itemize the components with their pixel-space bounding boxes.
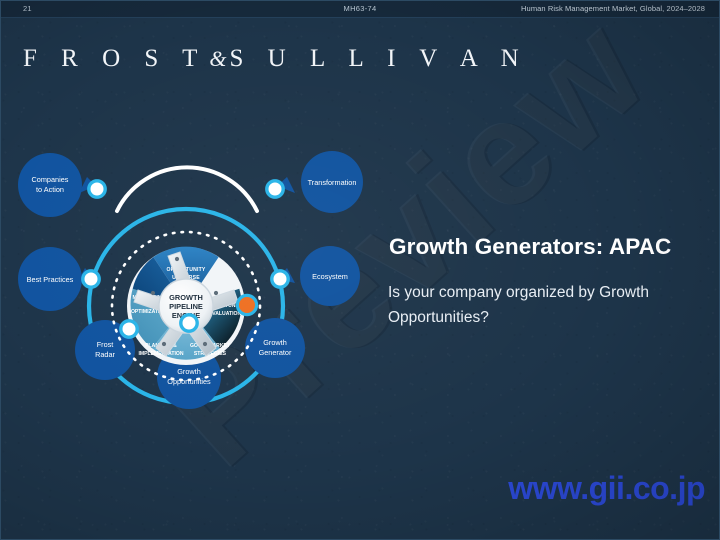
ring-node-3[interactable] [121, 321, 137, 337]
growth-pipeline-diagram: Companies to Action Best Practices Frost… [1, 101, 401, 421]
growth-pipeline-wheel: OPPORTUNITY UNIVERSE OPPORTUNITY EVALUAT… [127, 247, 245, 365]
ring-node-4[interactable] [181, 315, 197, 331]
bubble-label: Ecosystem [312, 272, 348, 281]
frost-sullivan-logo: F R O S T&S U L L I V A N [23, 45, 528, 73]
hub-label-line-1: GROWTH [169, 293, 203, 302]
ring-node-5-active[interactable] [237, 295, 256, 314]
bubble-companies-to-action[interactable]: Companies to Action [18, 153, 96, 217]
bubble-label-line-2: Generator [259, 348, 292, 357]
ring-node-1[interactable] [89, 181, 105, 197]
bubble-label-line-1: Companies [32, 175, 69, 184]
page-subtitle: Is your company organized by Growth Oppo… [388, 280, 703, 330]
report-title: Human Risk Management Market, Global, 20… [521, 4, 705, 13]
logo-text-sullivan: S U L L I V A N [229, 45, 527, 72]
bubble-label: Best Practices [27, 275, 74, 284]
ring-node-7[interactable] [267, 181, 283, 197]
bubble-label-line-2: Radar [95, 350, 115, 359]
ring-node-6[interactable] [272, 271, 288, 287]
logo-ampersand-icon: & [206, 46, 229, 71]
hub-label-line-2: PIPELINE [169, 302, 203, 311]
slide-canvas: 21 MH63-74 Human Risk Management Market,… [0, 0, 720, 540]
slide-header-bar: 21 MH63-74 Human Risk Management Market,… [1, 1, 719, 18]
bubble-label: Transformation [308, 178, 357, 187]
bubble-label-line-1: Frost [97, 340, 114, 349]
bubble-transformation[interactable]: Transformation [277, 151, 363, 213]
bubble-label-line-2: to Action [36, 185, 64, 194]
logo-text-frost: F R O S T [23, 45, 206, 72]
ring-node-2[interactable] [83, 271, 99, 287]
site-url[interactable]: www.gii.co.jp [508, 470, 705, 507]
page-title: Growth Generators: APAC [389, 234, 671, 260]
bubble-ecosystem[interactable]: Ecosystem [277, 246, 360, 306]
bubble-label-line-1: Growth [263, 338, 287, 347]
bubble-label-line-1: Growth [177, 367, 201, 376]
segment-label-l2: EVALUATION [209, 311, 242, 317]
